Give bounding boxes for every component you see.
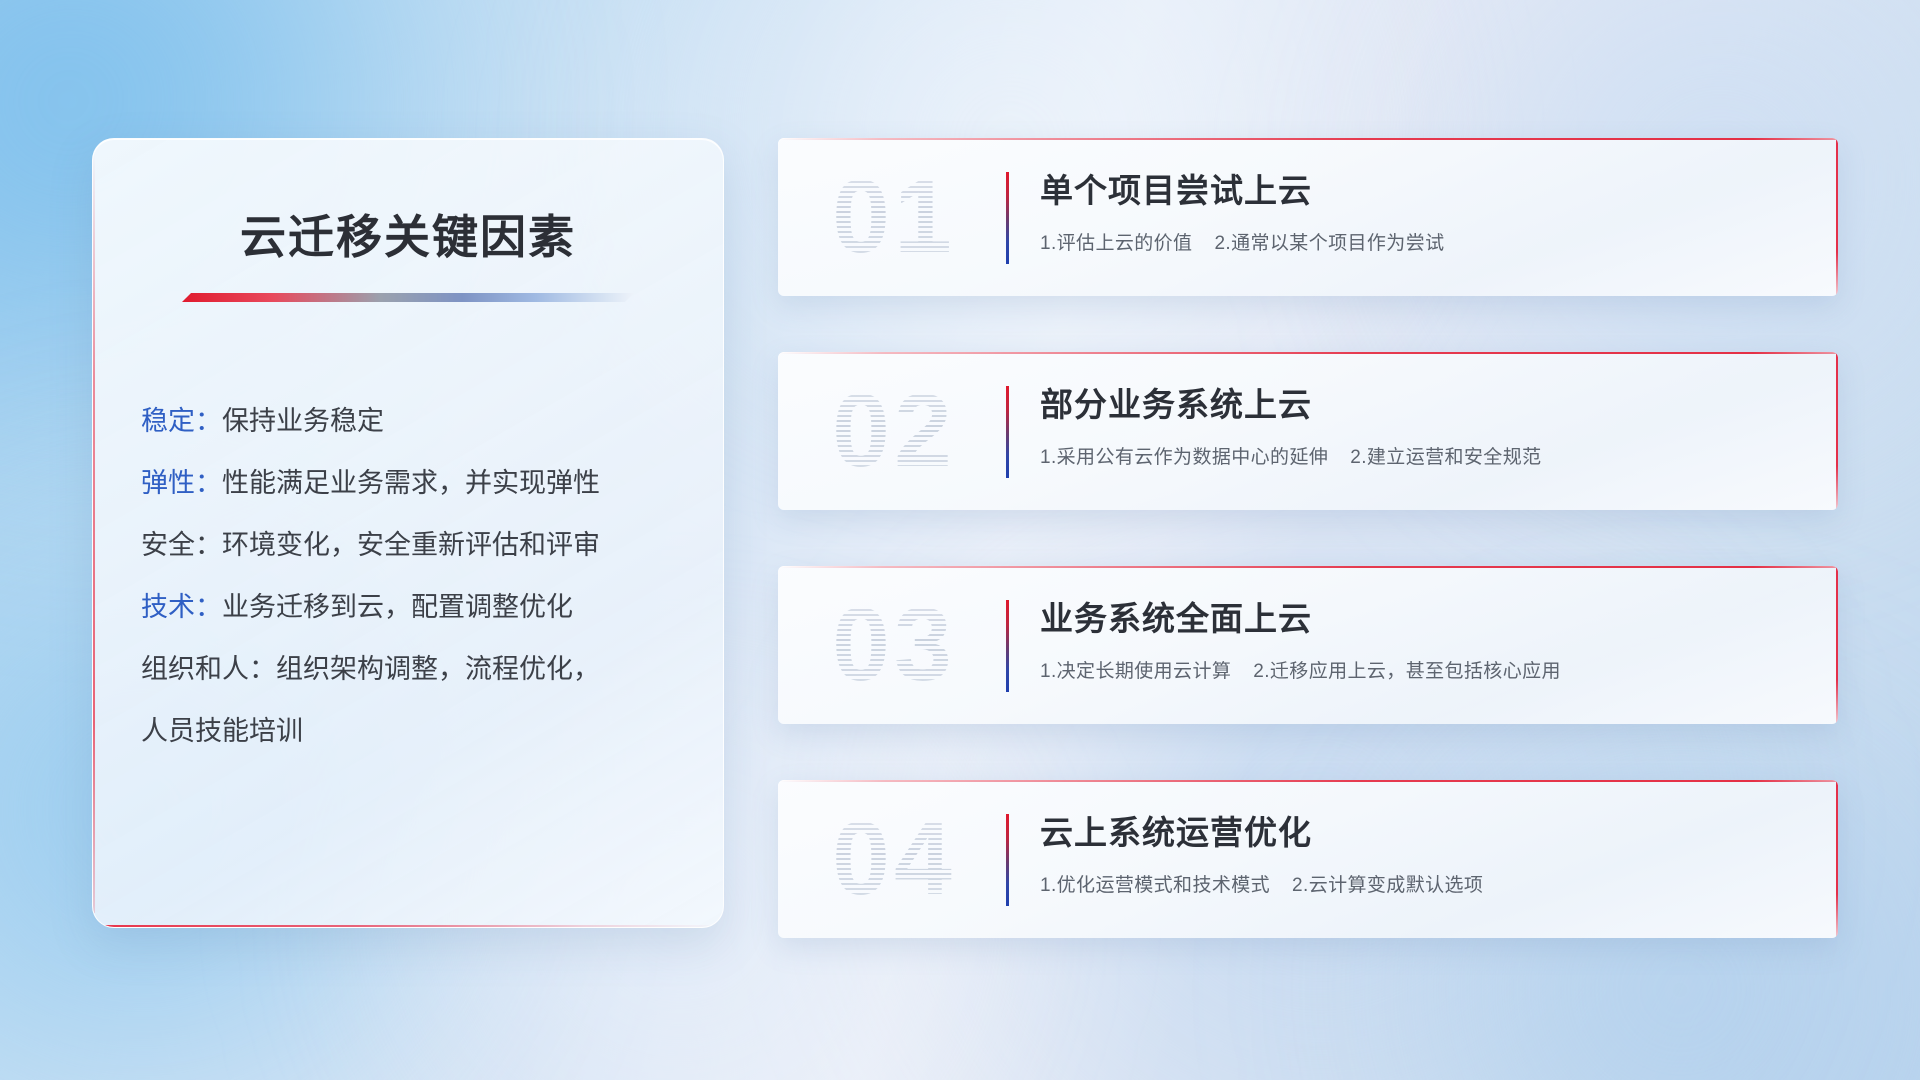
title-underline — [182, 293, 634, 302]
stage-number: 04 — [806, 788, 982, 930]
card-subtitle: 1.优化运营模式和技术模式2.云计算变成默认选项 — [1040, 870, 1798, 897]
list-item: 组织和人：组织架构调整，流程优化， — [141, 638, 681, 700]
card-sub-point-2: 2.通常以某个项目作为尝试 — [1214, 233, 1444, 254]
stage-card-03[interactable]: 03 业务系统全面上云 1.决定长期使用云计算2.迁移应用上云，甚至包括核心应用 — [778, 566, 1838, 724]
card-sub-point-2: 2.迁移应用上云，甚至包括核心应用 — [1253, 661, 1561, 682]
stage-card-02[interactable]: 02 部分业务系统上云 1.采用公有云作为数据中心的延伸2.建立运营和安全规范 — [778, 352, 1838, 510]
factor-label: 安全： — [141, 530, 222, 560]
card-body: 部分业务系统上云 1.采用公有云作为数据中心的延伸2.建立运营和安全规范 — [1040, 378, 1798, 469]
card-body: 业务系统全面上云 1.决定长期使用云计算2.迁移应用上云，甚至包括核心应用 — [1040, 592, 1798, 683]
factor-text: 保持业务稳定 — [222, 406, 384, 436]
card-sub-point-1: 1.评估上云的价值 — [1040, 233, 1192, 254]
list-item: 稳定：保持业务稳定 — [141, 390, 681, 452]
factor-text: 人员技能培训 — [141, 716, 303, 746]
card-sub-point-1: 1.决定长期使用云计算 — [1040, 661, 1231, 682]
factor-label: 稳定： — [141, 406, 222, 436]
list-item-continuation: 人员技能培训 — [141, 700, 681, 762]
card-sub-point-2: 2.云计算变成默认选项 — [1292, 875, 1483, 896]
slide-stage: 云迁移关键因素 稳定：保持业务稳定 弹性：性能满足业务需求，并实现弹性 安全：环… — [0, 0, 1920, 1080]
card-divider — [1006, 814, 1009, 906]
card-title: 云上系统运营优化 — [1040, 806, 1798, 854]
card-sub-point-1: 1.优化运营模式和技术模式 — [1040, 875, 1270, 896]
card-title: 业务系统全面上云 — [1040, 592, 1798, 640]
key-factors-panel: 云迁移关键因素 稳定：保持业务稳定 弹性：性能满足业务需求，并实现弹性 安全：环… — [92, 138, 724, 928]
stage-number: 03 — [806, 574, 982, 716]
card-subtitle: 1.采用公有云作为数据中心的延伸2.建立运营和安全规范 — [1040, 442, 1798, 469]
card-divider — [1006, 600, 1009, 692]
factor-label: 技术： — [141, 592, 222, 622]
card-subtitle: 1.决定长期使用云计算2.迁移应用上云，甚至包括核心应用 — [1040, 656, 1798, 683]
page-title: 云迁移关键因素 — [93, 201, 723, 267]
stage-card-list: 01 单个项目尝试上云 1.评估上云的价值2.通常以某个项目作为尝试 02 部分… — [778, 138, 1838, 938]
card-divider — [1006, 172, 1009, 264]
list-item: 技术：业务迁移到云，配置调整优化 — [141, 576, 681, 638]
card-subtitle: 1.评估上云的价值2.通常以某个项目作为尝试 — [1040, 228, 1798, 255]
factor-text: 组织架构调整，流程优化， — [276, 654, 600, 684]
card-title: 单个项目尝试上云 — [1040, 164, 1798, 212]
stage-card-01[interactable]: 01 单个项目尝试上云 1.评估上云的价值2.通常以某个项目作为尝试 — [778, 138, 1838, 296]
stage-card-04[interactable]: 04 云上系统运营优化 1.优化运营模式和技术模式2.云计算变成默认选项 — [778, 780, 1838, 938]
list-item: 弹性：性能满足业务需求，并实现弹性 — [141, 452, 681, 514]
card-divider — [1006, 386, 1009, 478]
stage-number: 02 — [806, 360, 982, 502]
card-title: 部分业务系统上云 — [1040, 378, 1798, 426]
list-item: 安全：环境变化，安全重新评估和评审 — [141, 514, 681, 576]
card-body: 云上系统运营优化 1.优化运营模式和技术模式2.云计算变成默认选项 — [1040, 806, 1798, 897]
factor-text: 环境变化，安全重新评估和评审 — [222, 530, 600, 560]
factor-label: 弹性： — [141, 468, 222, 498]
card-body: 单个项目尝试上云 1.评估上云的价值2.通常以某个项目作为尝试 — [1040, 164, 1798, 255]
card-sub-point-1: 1.采用公有云作为数据中心的延伸 — [1040, 447, 1328, 468]
card-sub-point-2: 2.建立运营和安全规范 — [1350, 447, 1541, 468]
factor-text: 业务迁移到云，配置调整优化 — [222, 592, 573, 622]
stage-number: 01 — [806, 146, 982, 288]
factor-text: 性能满足业务需求，并实现弹性 — [222, 468, 600, 498]
factor-label: 组织和人： — [141, 654, 276, 684]
factor-list: 稳定：保持业务稳定 弹性：性能满足业务需求，并实现弹性 安全：环境变化，安全重新… — [93, 390, 723, 762]
